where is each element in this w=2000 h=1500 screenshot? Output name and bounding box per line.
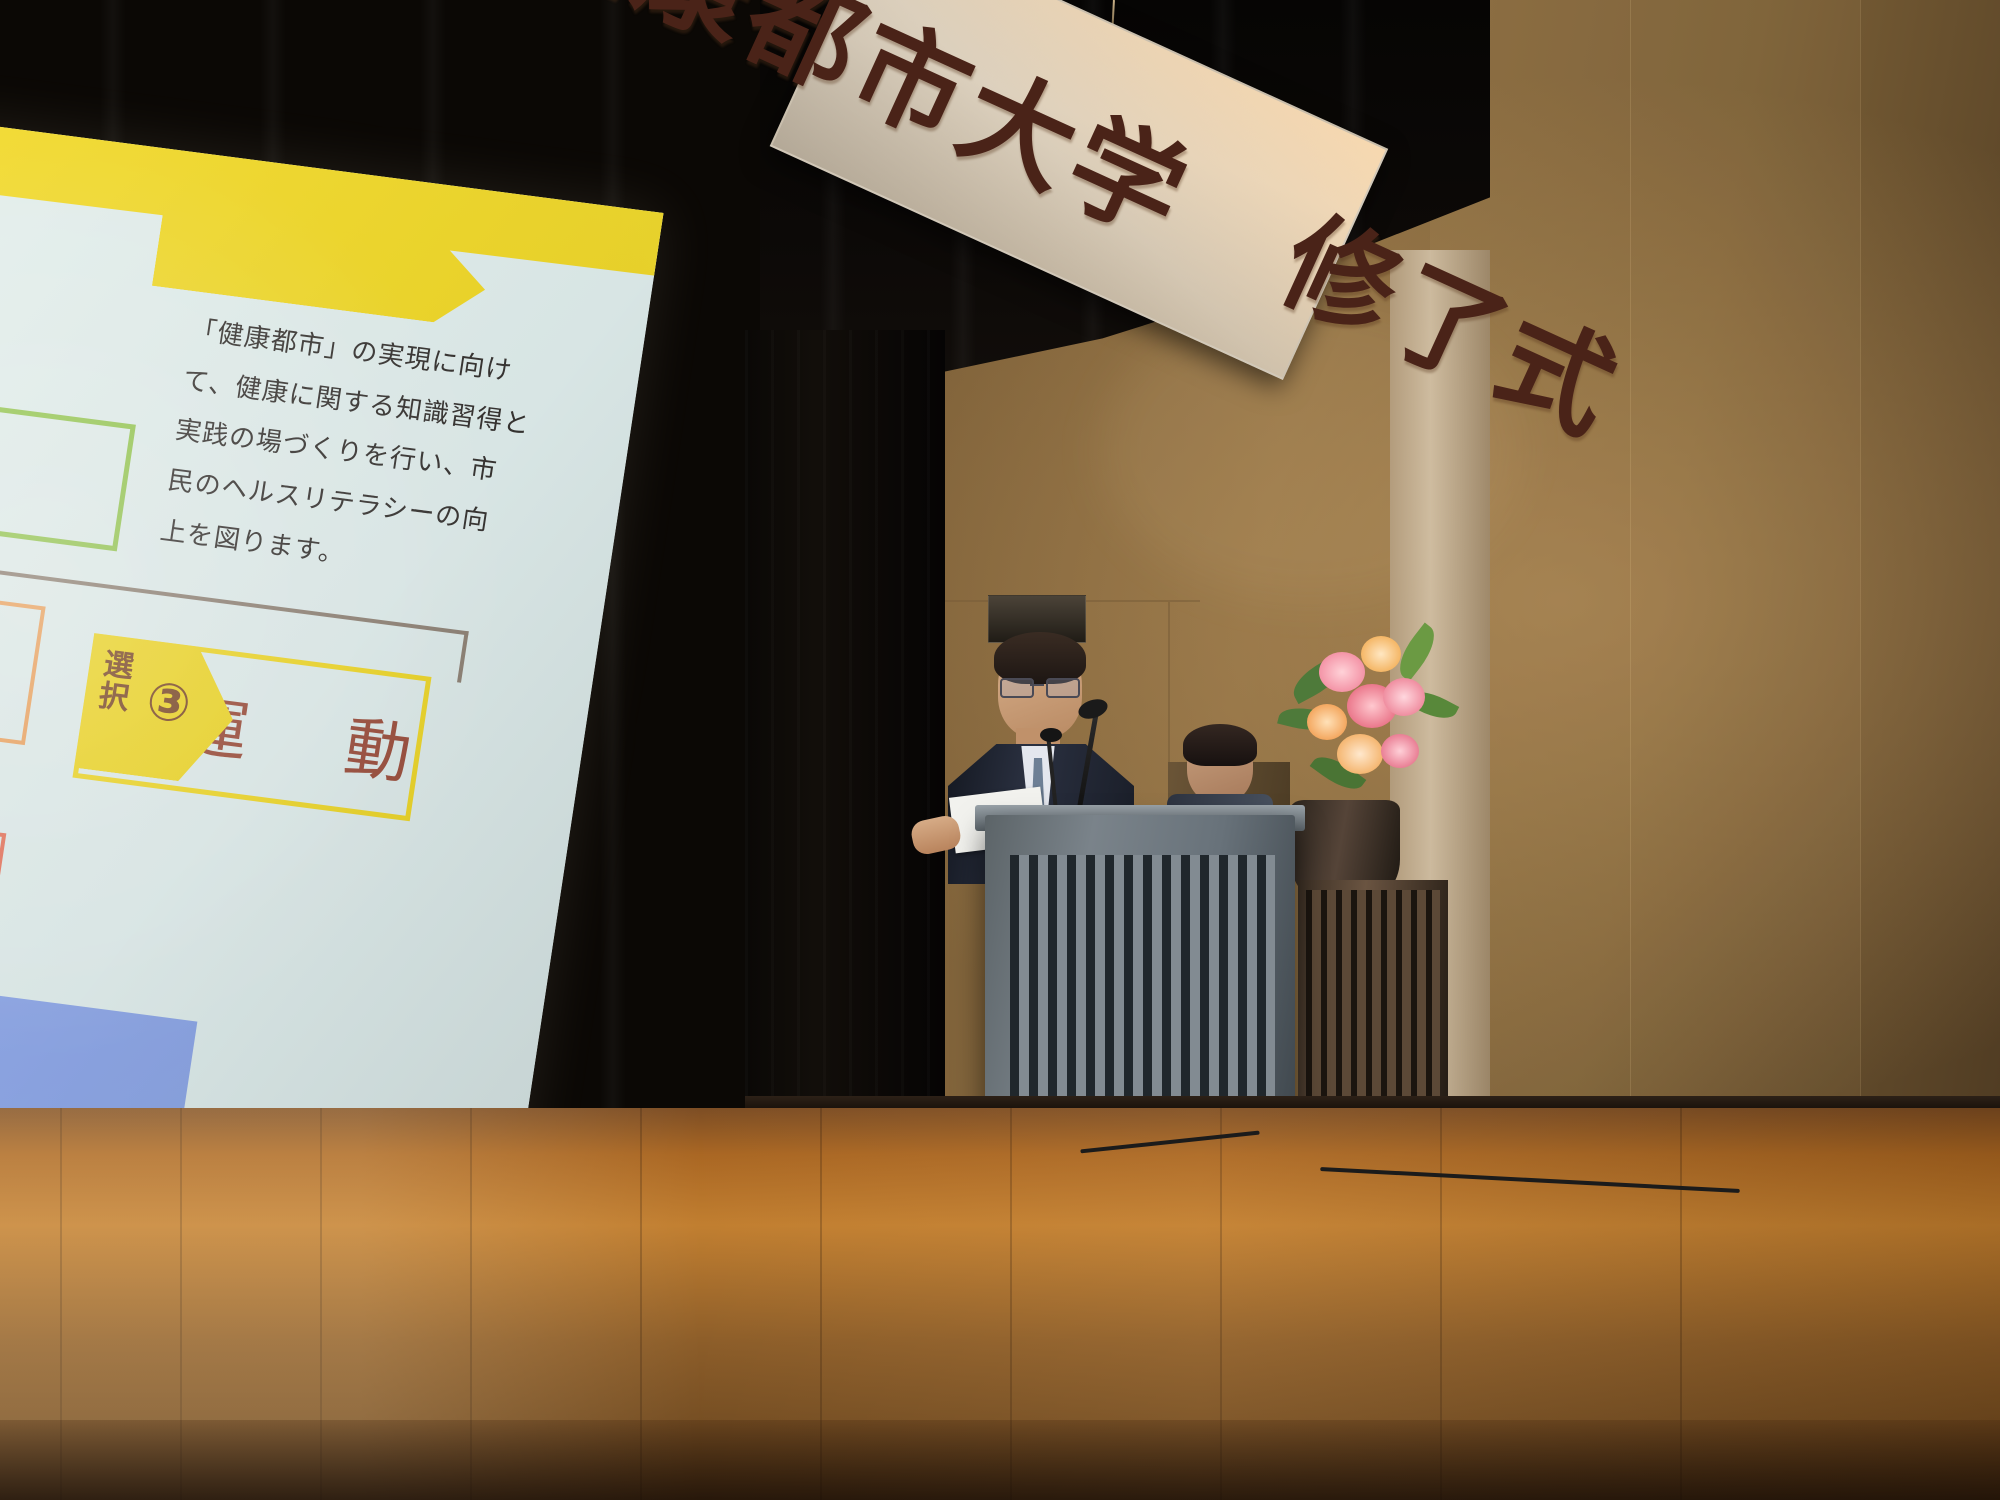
speaker-hair: [994, 632, 1086, 684]
podium-grille: [1010, 855, 1275, 1110]
slide-tag-choice3-word: 選択: [97, 649, 136, 715]
slide-box-health-city: 健康都市: [0, 359, 136, 551]
slide-intro-paragraph: 「健康都市」の実現に向けて、健康に関する知識習得と実践の場づくりを行い、市民のヘ…: [157, 305, 542, 601]
slide-tag-choice3-number: ③: [142, 671, 195, 736]
slide-connector: [457, 631, 469, 683]
wall-panel: [1630, 0, 1861, 1110]
floor-foreground-shadow: [0, 1420, 2000, 1500]
attendee-hair: [1183, 724, 1257, 766]
vase-pedestal: [1298, 880, 1448, 1110]
microphone-head-secondary: [1040, 728, 1062, 742]
speaker-glasses: [1000, 678, 1076, 694]
stage-curtain-side: [745, 330, 945, 1130]
slide-box-development: 発 展: [0, 774, 6, 969]
screenshot-root: 健康都市大学 修了式 市大学 rsity 「健康都市」の実現に向けて、健康に関す…: [0, 0, 2000, 1500]
